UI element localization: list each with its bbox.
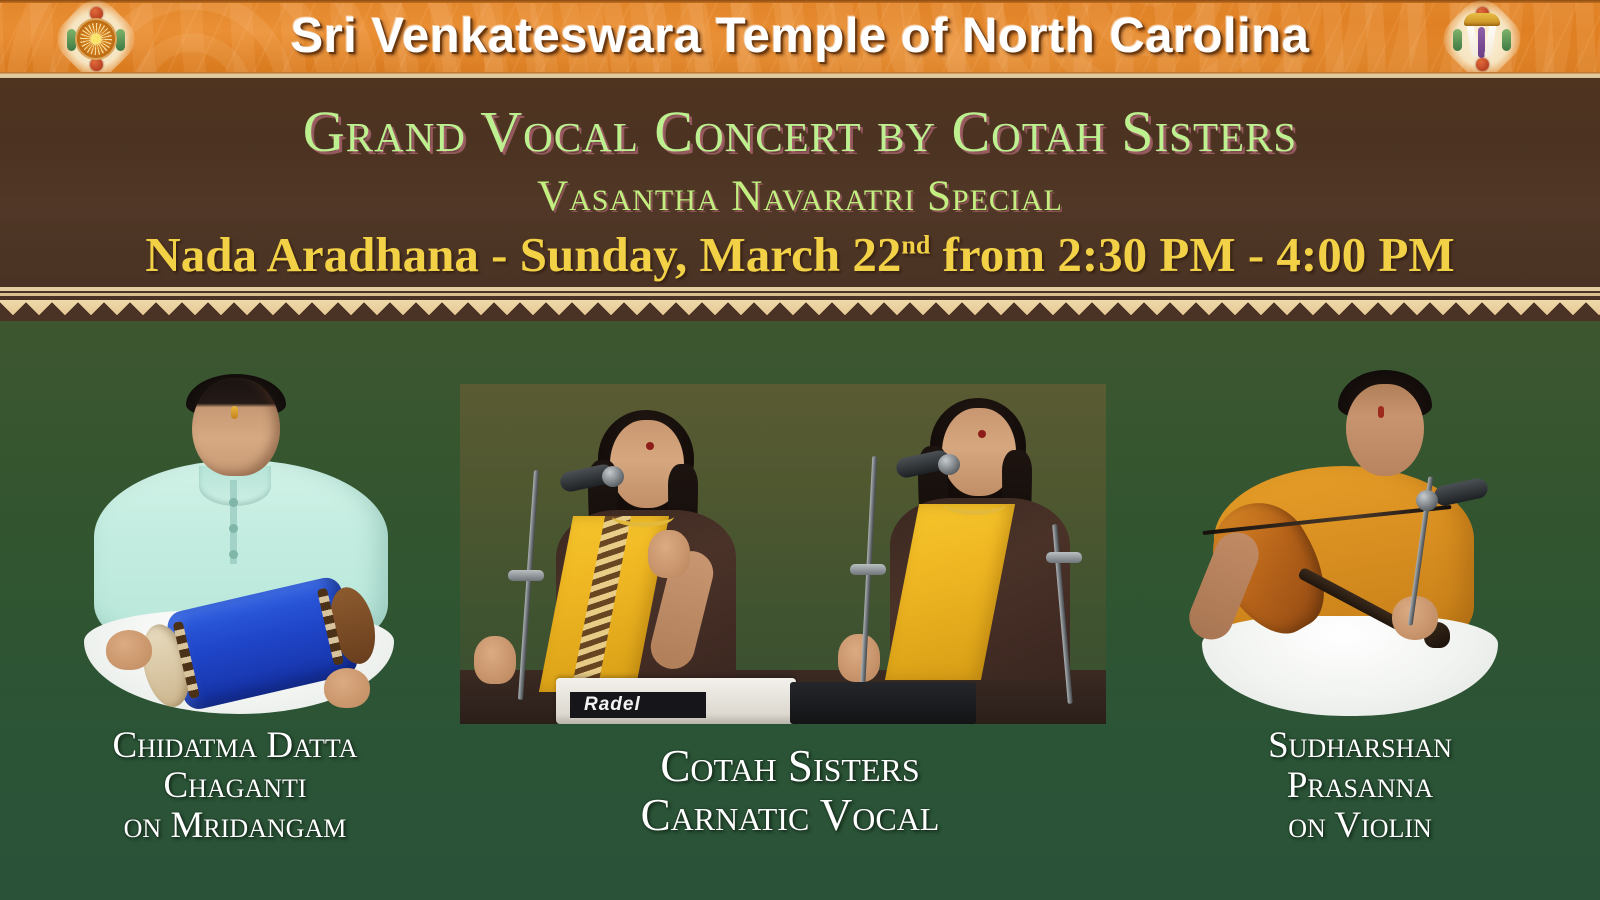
radel-tanpura-device: Radel [556,678,796,724]
vocalist-left-resting-hand [474,636,516,684]
kurta-button [229,550,238,559]
mridangam-player-head [192,378,280,476]
triangle-border-strip-icon [0,285,1600,321]
microphone-capsule [938,454,960,475]
event-datetime-prefix: Nada Aradhana - Sunday, March 22 [145,227,901,282]
caption-line: Chaganti [10,766,460,806]
ordinal-suffix: nd [901,231,930,260]
necklace-icon [612,506,674,527]
radel-brand-label: Radel [570,692,706,718]
kurta-button [229,498,238,507]
event-datetime-suffix: from 2:30 PM - 4:00 PM [930,227,1454,282]
violin-player-head [1346,384,1424,476]
microphone-icon [1433,477,1490,508]
violin-player-dhoti [1202,616,1498,716]
caption-line: on Mridangam [10,806,460,846]
caption-line: Cotah Sisters [470,742,1110,791]
bindi-icon [646,442,654,450]
bindi-icon [978,430,986,438]
microphone-clip [850,564,886,575]
caption-mridangam: Chidatma Datta Chaganti on Mridangam [10,726,460,846]
caption-line: Chidatma Datta [10,726,460,766]
vocalist-right-hand [838,634,880,682]
event-poster: Sri Venkateswara Temple of North Carolin… [0,0,1600,900]
violin-player-photo [1196,370,1516,720]
mridangam-player-left-hand [106,630,152,670]
amplifier-box [790,682,976,724]
forehead-tilak-icon [1378,406,1384,418]
mridangam-player-right-hand [324,668,370,708]
caption-line: on Violin [1150,806,1570,846]
temple-header-banner: Sri Venkateswara Temple of North Carolin… [0,0,1600,78]
forehead-tilak-icon [231,406,238,419]
vocalist-left-hand-mudra [648,530,690,578]
temple-name-title: Sri Venkateswara Temple of North Carolin… [0,8,1600,64]
caption-line: Carnatic Vocal [470,791,1110,840]
mridangam-player-photo [74,374,404,720]
caption-vocal: Cotah Sisters Carnatic Vocal [470,742,1110,839]
cotah-sisters-photo: Radel [460,384,1106,724]
microphone-capsule [602,466,624,487]
microphone-capsule [1416,490,1438,511]
caption-line: Prasanna [1150,766,1570,806]
microphone-clip [508,570,544,581]
title-section: Grand Vocal Concert by Cotah Sisters Vas… [0,78,1600,285]
concert-subheading: Vasantha Navaratri Special [0,172,1600,221]
caption-line: Sudharshan [1150,726,1570,766]
ornament-line-lower [0,293,1600,296]
microphone-clip [1046,552,1082,563]
ornament-line-upper [0,287,1600,291]
concert-heading: Grand Vocal Concert by Cotah Sisters [0,98,1600,165]
caption-violin: Sudharshan Prasanna on Violin [1150,726,1570,846]
necklace-icon [944,494,1006,515]
kurta-button [229,524,238,533]
ornament-triangles [0,300,1600,319]
header-top-edge [0,0,1600,3]
event-datetime-line: Nada Aradhana - Sunday, March 22nd from … [0,226,1600,283]
